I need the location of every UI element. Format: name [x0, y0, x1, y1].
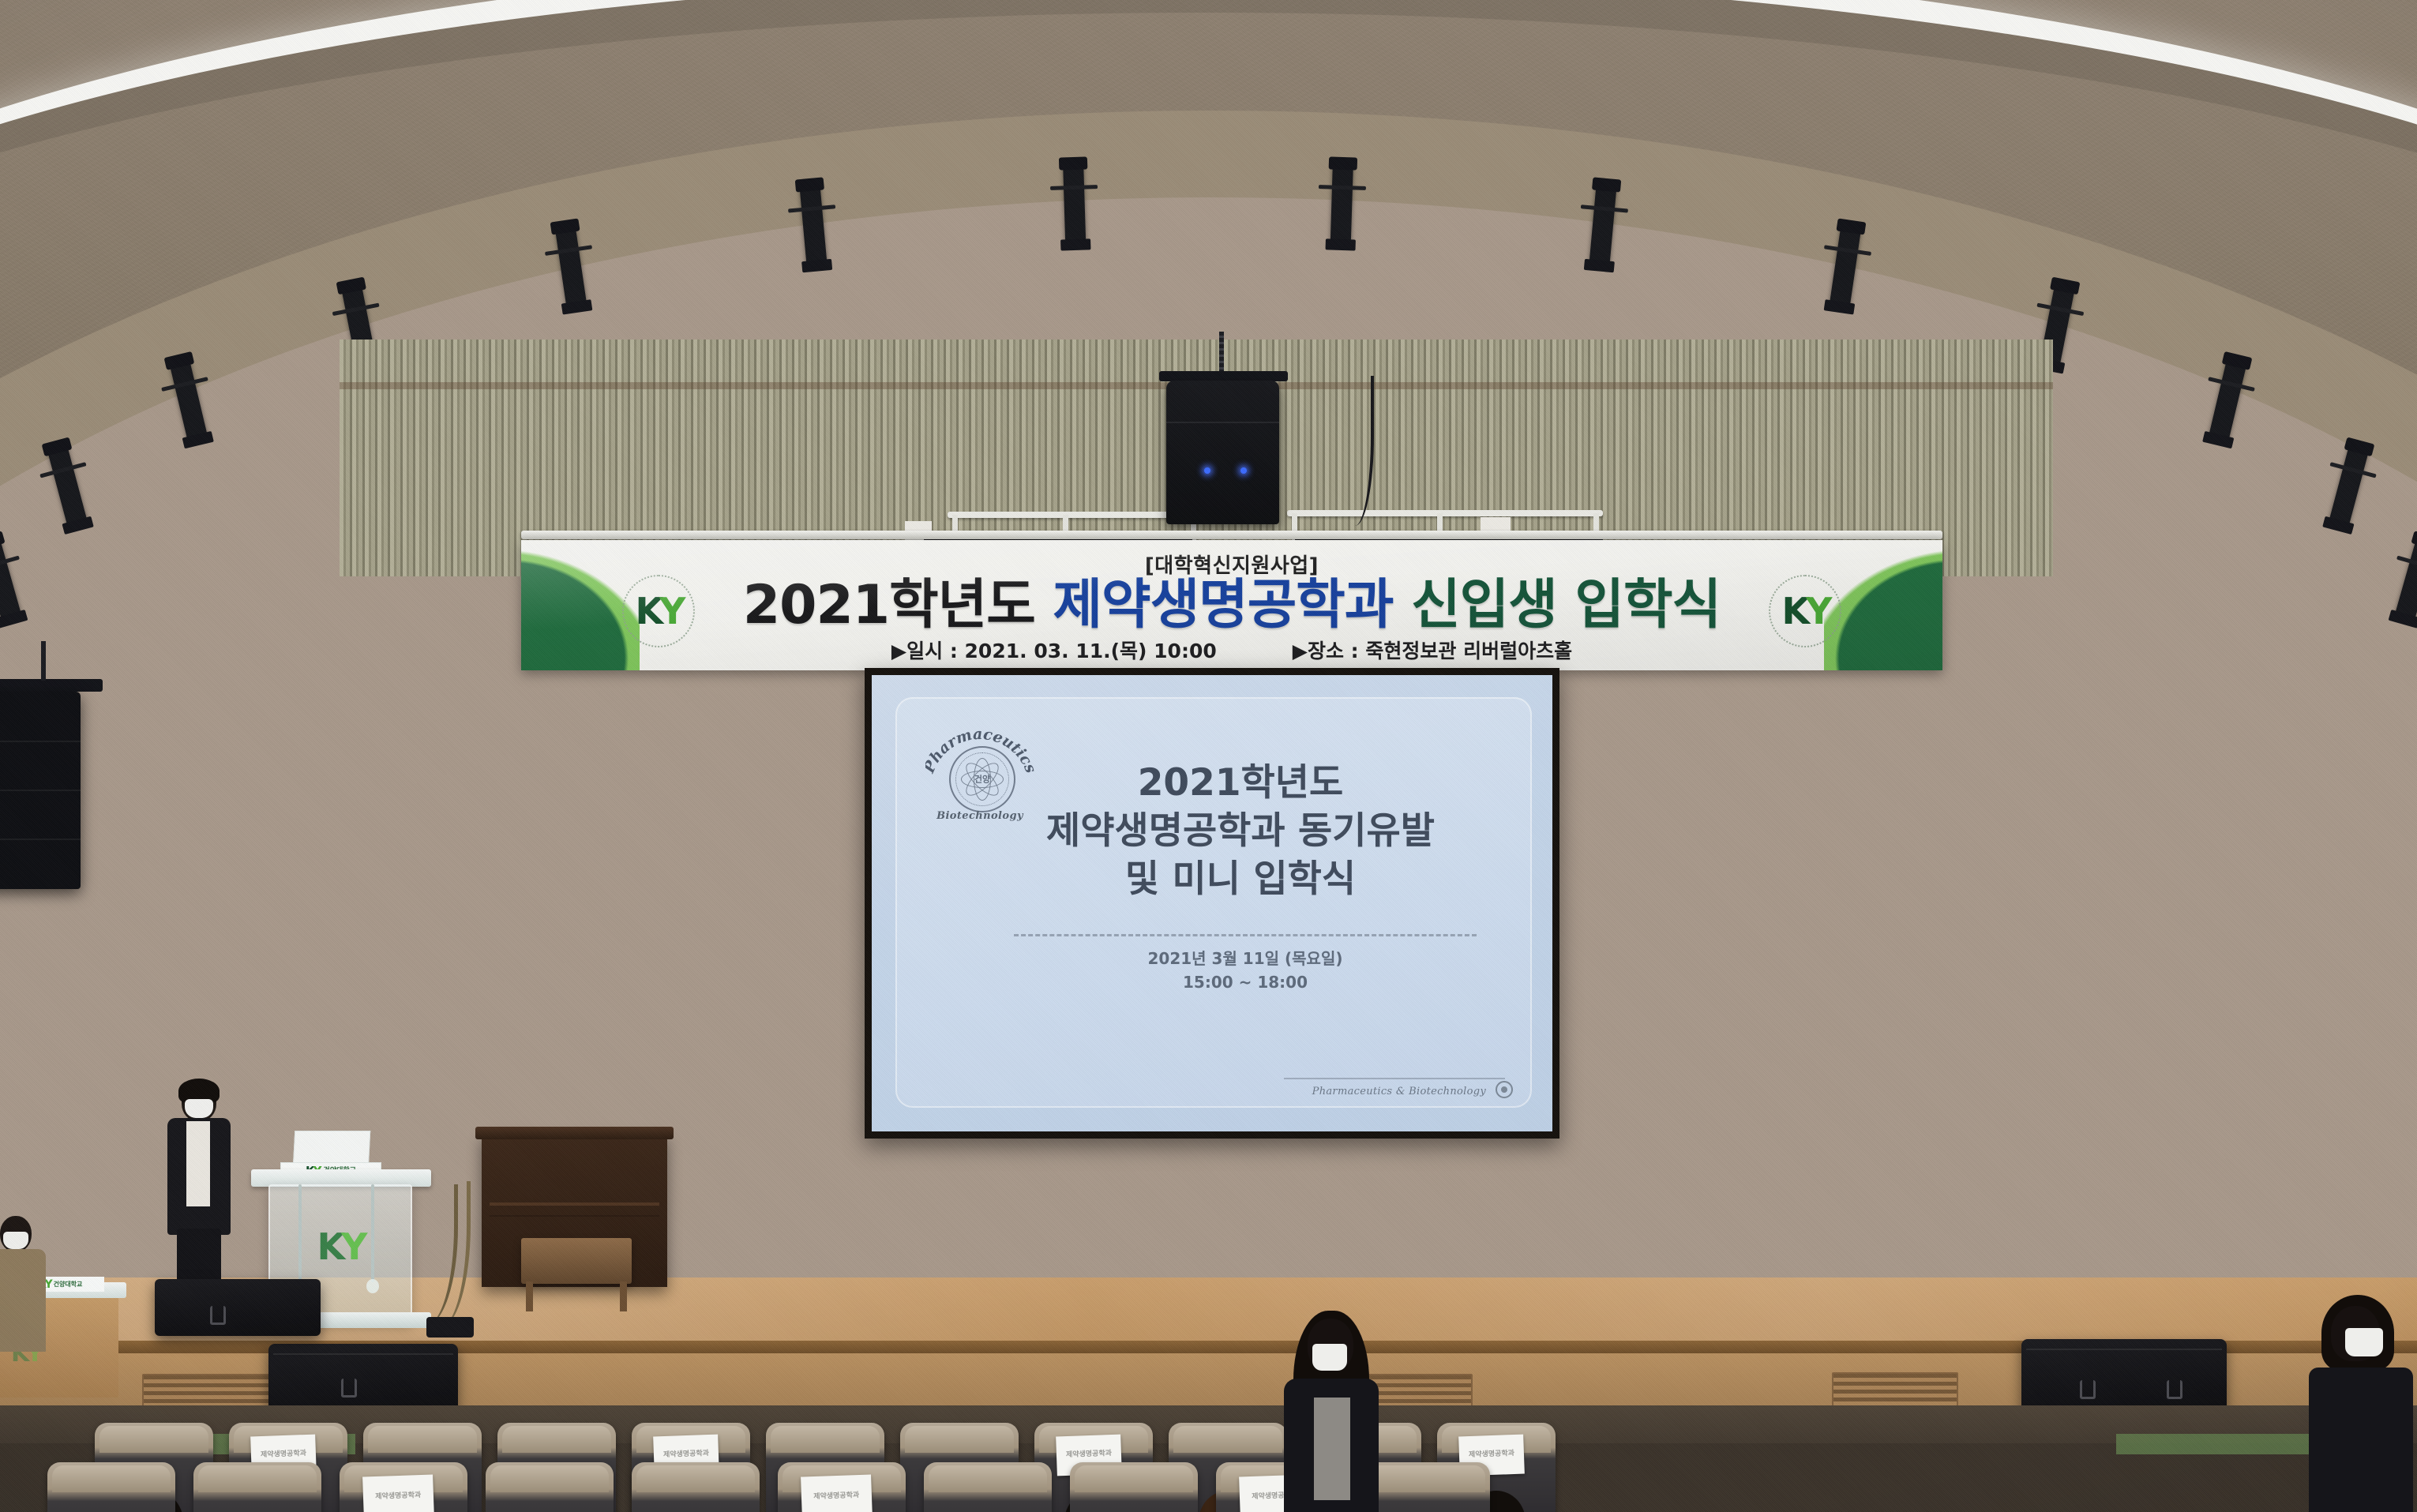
left-array-chain: [41, 641, 46, 681]
audience-seat[interactable]: [486, 1462, 614, 1512]
stage-monitor-front-left: [155, 1279, 321, 1336]
light-yoke: [1059, 157, 1087, 171]
array-seam: [0, 790, 81, 791]
seat-headrest: [1075, 1465, 1193, 1492]
seat-headrest: [905, 1426, 1014, 1453]
seat-name-card: 제약생명공학과: [362, 1475, 433, 1512]
seat-headrest: [636, 1465, 755, 1492]
mic-base-right: [366, 1279, 379, 1293]
auditorium-photo: KY KY [대학혁신지원사업] 2021학년도 제약생명공학과 신입생 입학식…: [0, 0, 2417, 1512]
light-yoke: [794, 178, 824, 193]
monitor-handle: [2167, 1380, 2182, 1399]
center-line-array-speaker: [1166, 381, 1279, 524]
monitor-seam: [273, 1353, 453, 1355]
seat-headrest: [929, 1465, 1047, 1492]
projection-screen: Pharmaceutics 건양 Biotechnology 2021학년도 제…: [872, 675, 1552, 1131]
slide-footer-text: Pharmaceutics & Biotechnology: [1312, 1086, 1486, 1097]
attendee-face-mask: [1312, 1344, 1347, 1371]
floor-connector-box: [426, 1317, 474, 1338]
podium-logo-y: Y: [341, 1225, 363, 1268]
stage-light-7: [1063, 160, 1086, 243]
banner-place: ▶장소 : 죽현정보관 리버럴아츠홀: [1293, 640, 1572, 662]
audience-seat[interactable]: [924, 1462, 1052, 1512]
seat-headrest: [1173, 1426, 1282, 1453]
projection-screen-frame: Pharmaceutics 건양 Biotechnology 2021학년도 제…: [865, 668, 1559, 1139]
banner-title-department: 제약생명공학과: [1053, 574, 1393, 636]
attendee-jacket: [2309, 1368, 2413, 1512]
slide-meta: 2021년 3월 11일 (목요일) 15:00 ~ 18:00: [1014, 947, 1477, 994]
array-seam: [0, 741, 81, 742]
monitor-seam: [2026, 1349, 2222, 1350]
person-left-body: [0, 1249, 46, 1352]
stage-monitor-right: [2021, 1339, 2227, 1415]
bench-leg: [526, 1281, 533, 1311]
seat-headrest: [368, 1426, 477, 1453]
podium-ky-logo: KY: [317, 1229, 364, 1265]
person-face-mask: [185, 1099, 213, 1118]
standing-attendee: [1271, 1311, 1390, 1512]
slide-title: 2021학년도 제약생명공학과 동기유발 및 미니 입학식: [990, 759, 1491, 903]
audience-seat[interactable]: [632, 1462, 760, 1512]
audience-seat[interactable]: [1070, 1462, 1198, 1512]
banner-details: ▶일시 : 2021. 03. 11.(목) 10:00▶장소 : 죽현정보관 …: [521, 641, 1942, 661]
audience-seat[interactable]: [47, 1462, 175, 1512]
monitor-handle: [341, 1379, 357, 1398]
piano-bench: [521, 1238, 632, 1284]
seat-headrest: [490, 1465, 609, 1492]
seat-headrest: [198, 1465, 317, 1492]
slide-meta-date: 2021년 3월 11일 (목요일): [1014, 947, 1477, 970]
person-left-mask: [3, 1232, 28, 1249]
podium-logo-k: K: [317, 1225, 342, 1268]
slide-title-line-3: 및 미니 입학식: [990, 855, 1491, 903]
left-array-mount-bar: [0, 679, 103, 692]
person-shirt: [186, 1121, 210, 1206]
bench-leg: [620, 1281, 627, 1311]
stage-rail-right: [1287, 510, 1603, 516]
audience-seat[interactable]: [193, 1462, 321, 1512]
standing-attendee-right: [2314, 1295, 2417, 1512]
speaker-chain: [1219, 332, 1224, 374]
slide-title-line-2: 제약생명공학과 동기유발: [990, 807, 1491, 855]
piano-keyboard-line: [490, 1202, 659, 1206]
seat-headrest: [502, 1426, 611, 1453]
banner-date: ▶일시 : 2021. 03. 11.(목) 10:00: [891, 640, 1217, 662]
banner-title-event: 신입생 입학식: [1411, 574, 1721, 636]
left-line-array-speaker: [0, 692, 81, 889]
banner-hanging-rod: [521, 531, 1942, 539]
slide-footer-rule: [1284, 1078, 1505, 1079]
podium-microphone-right: [371, 1184, 374, 1282]
attendee-face-mask: [2345, 1328, 2383, 1356]
slide-divider: [1014, 934, 1477, 936]
event-banner: KY KY [대학혁신지원사업] 2021학년도 제약생명공학과 신입생 입학식…: [521, 540, 1942, 670]
slide-title-line-1: 2021학년도: [990, 759, 1491, 807]
stage-monitor-left: [268, 1344, 458, 1412]
piano-fallboard-line: [490, 1215, 659, 1217]
array-seam: [0, 839, 81, 840]
banner-title-year: 2021학년도: [743, 574, 1035, 636]
podium-microphone-left: [298, 1184, 302, 1282]
stage-light-8: [1330, 160, 1353, 243]
seat-headrest: [52, 1465, 171, 1492]
banner-title: 2021학년도 제약생명공학과 신입생 입학식: [521, 576, 1942, 634]
slide-card: Pharmaceutics 건양 Biotechnology 2021학년도 제…: [895, 697, 1532, 1108]
speaker-led-left: [1204, 467, 1210, 474]
monitor-handle: [2080, 1380, 2096, 1399]
speaker-seam: [1166, 422, 1279, 423]
attendee-inner-top: [1314, 1398, 1350, 1500]
emblem-center-label: 건양: [974, 775, 990, 784]
light-yoke: [1329, 157, 1357, 171]
stage-rail-left: [948, 512, 1200, 518]
light-yoke: [1592, 178, 1621, 193]
speaker-led-right: [1240, 467, 1247, 474]
slide-footer-mark-icon: [1496, 1081, 1513, 1098]
person-left-edge: [0, 1216, 49, 1358]
piano-lid: [475, 1127, 674, 1139]
seat-name-card: 제약생명공학과: [801, 1475, 872, 1512]
seat-headrest: [771, 1426, 880, 1453]
slide-meta-time: 15:00 ~ 18:00: [1014, 970, 1477, 994]
seat-headrest: [99, 1426, 208, 1453]
left-plate-text: 건양대학교: [54, 1281, 83, 1288]
monitor-handle: [210, 1306, 226, 1325]
